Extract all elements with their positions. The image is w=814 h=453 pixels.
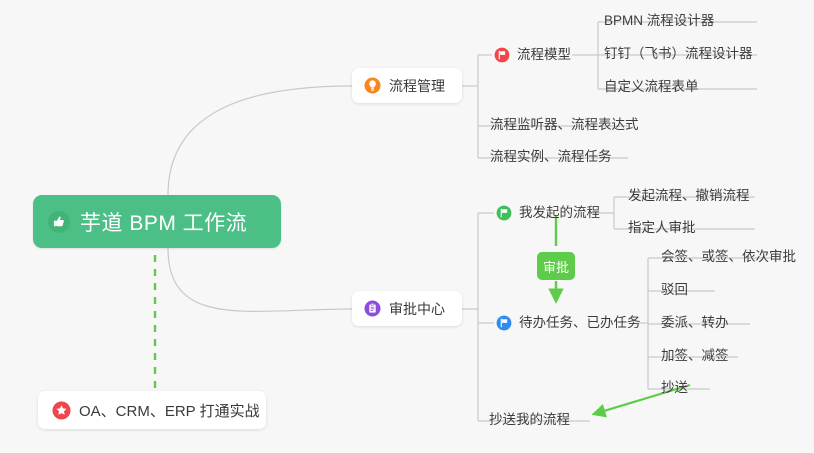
callout-oa-crm-erp-label: OA、CRM、ERP 打通实战 <box>79 400 260 421</box>
node-label-todo-done-tasks: 待办任务、已办任务 <box>519 314 641 331</box>
node-my-started-process[interactable]: 我发起的流程 <box>496 204 600 225</box>
approval-badge-label: 审批 <box>543 257 569 276</box>
approval-badge[interactable]: 审批 <box>537 252 575 280</box>
leaf-countersign-orsign-sequential[interactable]: 会签、或签、依次审批 <box>661 248 796 269</box>
root-label: 芋道 BPM 工作流 <box>80 207 247 237</box>
flag-icon <box>494 47 510 63</box>
leaf-dingtalk-feishu-designer[interactable]: 钉钉（飞书）流程设计器 <box>604 45 753 66</box>
branch-label-process-management: 流程管理 <box>389 76 445 96</box>
leaf-reject[interactable]: 驳回 <box>661 281 688 302</box>
flag-icon <box>496 315 512 331</box>
clipboard-icon <box>364 300 381 317</box>
branch-label-approval-center: 审批中心 <box>389 299 445 319</box>
branch-node-process-management[interactable]: 流程管理 <box>352 68 462 103</box>
leaf-bpmn-designer[interactable]: BPMN 流程设计器 <box>604 12 714 33</box>
node-process-model[interactable]: 流程模型 <box>494 46 571 67</box>
leaf-delegate-transfer[interactable]: 委派、转办 <box>661 314 729 335</box>
leaf-designated-approver[interactable]: 指定人审批 <box>628 219 696 240</box>
leaf-start-cancel-process[interactable]: 发起流程、撤销流程 <box>628 187 750 208</box>
branch-node-approval-center[interactable]: 审批中心 <box>352 291 462 326</box>
leaf-custom-process-form[interactable]: 自定义流程表单 <box>604 78 699 99</box>
callout-oa-crm-erp[interactable]: OA、CRM、ERP 打通实战 <box>38 391 266 429</box>
leaf-cc-to-me[interactable]: 抄送我的流程 <box>489 411 570 432</box>
node-label-process-model: 流程模型 <box>517 46 571 63</box>
flag-icon <box>496 205 512 221</box>
node-todo-done-tasks[interactable]: 待办任务、已办任务 <box>496 314 641 335</box>
star-icon <box>52 401 71 420</box>
leaf-process-instance-task[interactable]: 流程实例、流程任务 <box>490 148 612 169</box>
node-label-my-started-process: 我发起的流程 <box>519 204 600 221</box>
mindmap-canvas: 芋道 BPM 工作流 流程管理 审批中心 <box>0 0 814 453</box>
thumbs-up-icon <box>47 210 71 234</box>
lightbulb-icon <box>364 77 381 94</box>
root-node[interactable]: 芋道 BPM 工作流 <box>33 195 281 248</box>
leaf-add-remove-sign[interactable]: 加签、减签 <box>661 347 729 368</box>
leaf-process-listener-expression[interactable]: 流程监听器、流程表达式 <box>490 116 639 137</box>
leaf-carbon-copy[interactable]: 抄送 <box>661 379 688 400</box>
